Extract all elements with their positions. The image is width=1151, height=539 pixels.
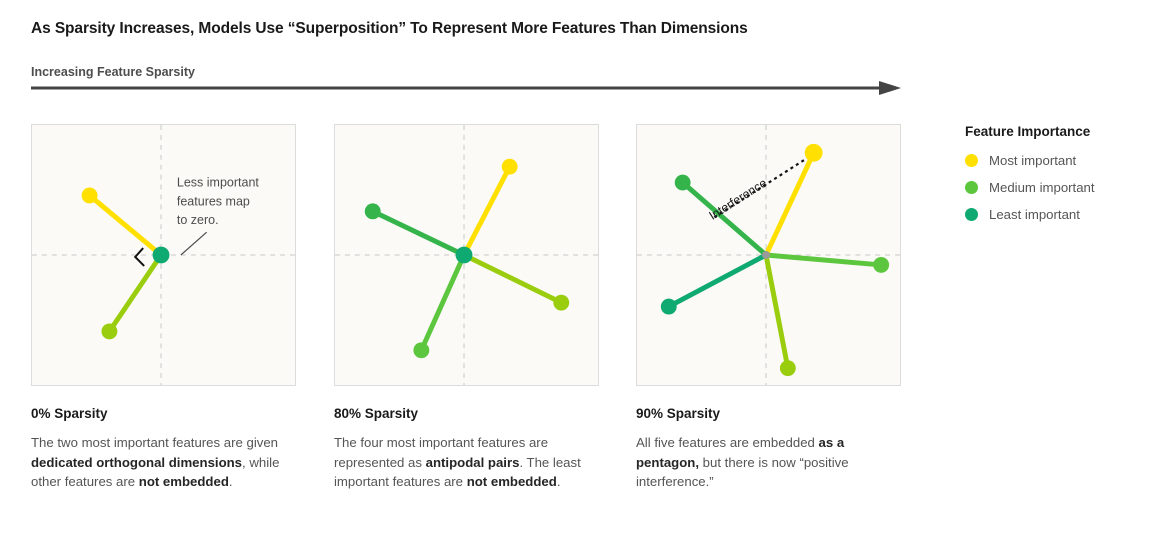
annotation-leader-line (181, 232, 207, 255)
annotation-line-3: to zero. (177, 213, 219, 227)
feature-vector-medium-b (421, 255, 464, 350)
legend-item-medium: Medium important (965, 180, 1145, 195)
feature-vector-medium-b (766, 255, 881, 265)
legend-swatch-medium (965, 181, 978, 194)
caption-title-0: 0% Sparsity (31, 406, 303, 421)
plot-panel-90-sparsity: Interference (636, 124, 901, 386)
caption-body-1: The four most important features are rep… (334, 433, 606, 492)
feature-point-most (805, 144, 823, 162)
origin-dot (762, 251, 770, 259)
legend: Feature Importance Most important Medium… (965, 124, 1145, 234)
legend-label-most: Most important (989, 153, 1076, 168)
feature-point-most (82, 188, 98, 204)
feature-point-least-at-zero (153, 247, 170, 264)
plot-svg-2: Interference (637, 125, 900, 385)
caption-2: 90% Sparsity All five features are embed… (636, 406, 908, 492)
feature-point-medium-a (675, 175, 691, 191)
annotation-line-1: Less important (177, 176, 260, 190)
caption-body-0: The two most important features are give… (31, 433, 303, 492)
feature-point-medium-b (873, 257, 889, 273)
feature-point-medium (101, 323, 117, 339)
annotation-line-2: features map (177, 194, 250, 208)
feature-point-most-b (553, 295, 569, 311)
caption-title-2: 90% Sparsity (636, 406, 908, 421)
feature-point-medium-c (780, 360, 796, 376)
caption-0: 0% Sparsity The two most important featu… (31, 406, 303, 492)
feature-vector-most (766, 153, 814, 255)
legend-item-least: Least important (965, 207, 1145, 222)
feature-vector-most-b (464, 255, 561, 303)
arrow-right-icon (31, 80, 901, 96)
feature-point-medium-a (365, 203, 381, 219)
plot-panel-80-sparsity (334, 124, 599, 386)
axis-label: Increasing Feature Sparsity (31, 65, 195, 79)
plot-panel-0-sparsity: Less important features map to zero. (31, 124, 296, 386)
caption-title-1: 80% Sparsity (334, 406, 606, 421)
feature-vector-most (90, 195, 161, 255)
feature-point-least (661, 299, 677, 315)
legend-label-least: Least important (989, 207, 1080, 222)
caption-1: 80% Sparsity The four most important fea… (334, 406, 606, 492)
caption-body-2: All five features are embedded as a pent… (636, 433, 908, 492)
feature-vector-medium-a (373, 211, 464, 255)
legend-swatch-least (965, 208, 978, 221)
feature-point-least-at-zero (456, 247, 473, 264)
feature-point-medium-b (413, 342, 429, 358)
feature-point-most-a (502, 159, 518, 175)
feature-vector-medium (109, 255, 161, 331)
legend-swatch-most (965, 154, 978, 167)
feature-vector-most-a (464, 167, 510, 255)
page-title: As Sparsity Increases, Models Use “Super… (31, 20, 748, 38)
feature-vector-least (669, 255, 766, 307)
plot-svg-1 (335, 125, 598, 385)
interference-label: Interference (707, 176, 770, 223)
feature-vector-medium-c (766, 255, 788, 368)
legend-item-most: Most important (965, 153, 1145, 168)
plot-svg-0: Less important features map to zero. (32, 125, 295, 385)
legend-label-medium: Medium important (989, 180, 1095, 195)
legend-title: Feature Importance (965, 124, 1145, 139)
right-angle-marker (135, 248, 144, 266)
